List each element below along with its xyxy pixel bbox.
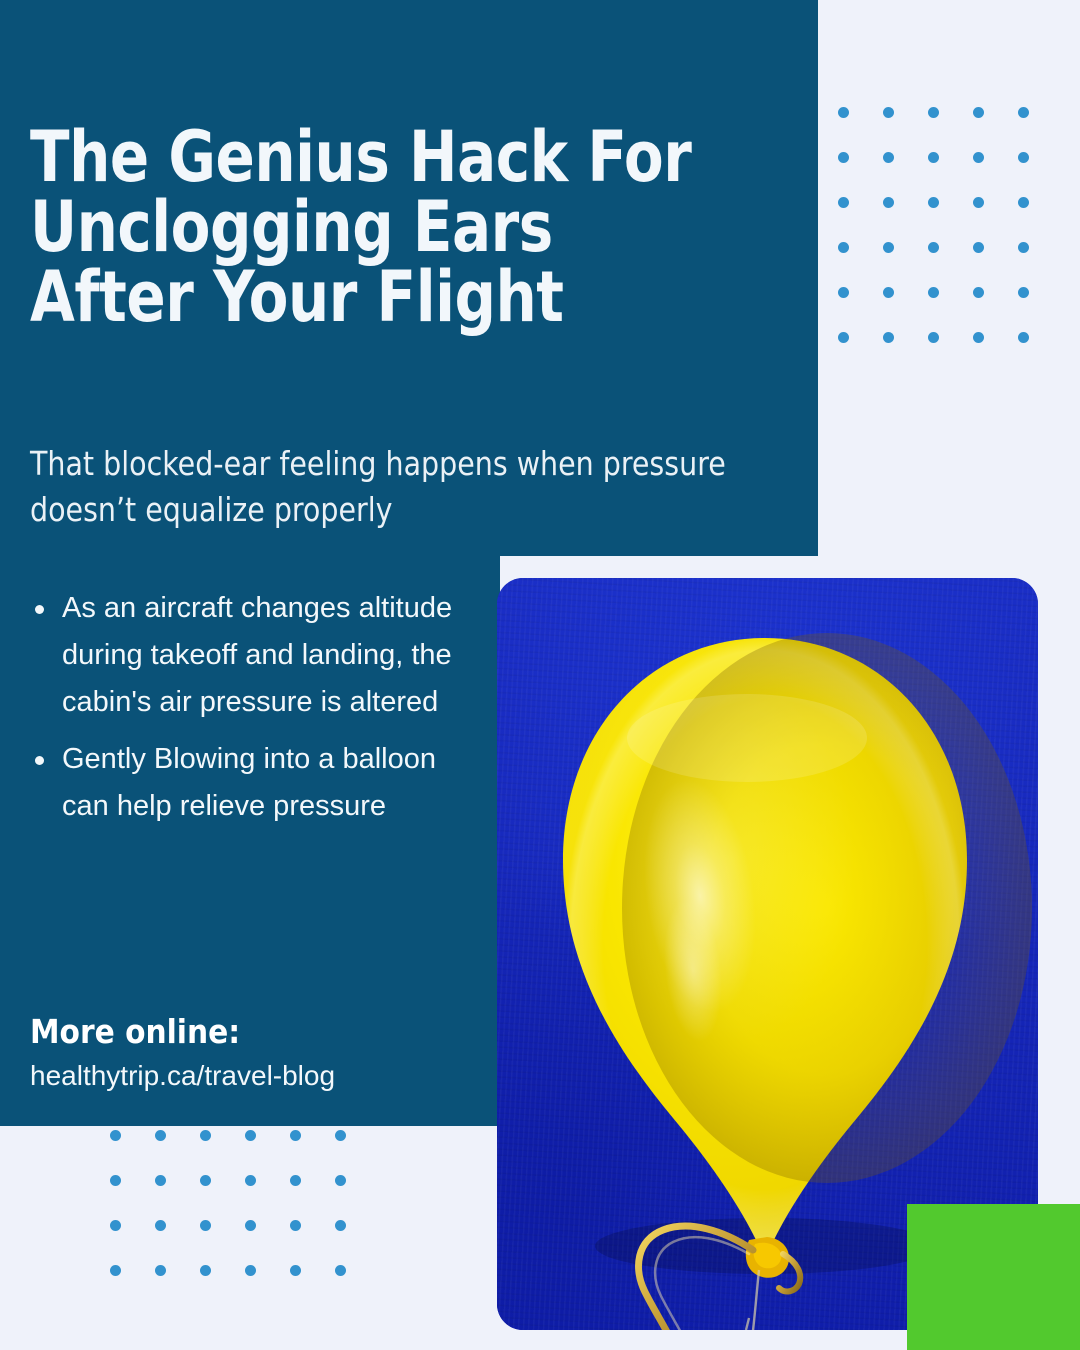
decorative-dot: [155, 1175, 166, 1186]
list-item-text: As an aircraft changes altitude during t…: [62, 592, 452, 718]
page-title-line-1: The Genius Hack For: [30, 122, 729, 192]
decorative-dot: [883, 332, 894, 343]
dot-grid-top-right: [838, 107, 1038, 347]
page-title-line-3: After Your Flight: [30, 262, 729, 332]
decorative-dot: [928, 197, 939, 208]
list-item: As an aircraft changes altitude during t…: [22, 585, 482, 726]
decorative-dot: [335, 1265, 346, 1276]
decorative-dot: [1018, 332, 1029, 343]
decorative-dot: [883, 107, 894, 118]
decorative-dot: [973, 242, 984, 253]
decorative-dot: [200, 1265, 211, 1276]
decorative-dot: [245, 1130, 256, 1141]
decorative-dot: [1018, 287, 1029, 298]
decorative-dot: [290, 1265, 301, 1276]
decorative-dot: [838, 332, 849, 343]
decorative-dot: [838, 287, 849, 298]
decorative-dot: [110, 1130, 121, 1141]
decorative-dot: [155, 1130, 166, 1141]
decorative-dot: [335, 1175, 346, 1186]
subtitle: That blocked-ear feeling happens when pr…: [30, 441, 740, 532]
decorative-dot: [245, 1175, 256, 1186]
decorative-dot: [245, 1220, 256, 1231]
decorative-dot: [883, 242, 894, 253]
decorative-dot: [883, 197, 894, 208]
decorative-dot: [883, 152, 894, 163]
decorative-dot: [928, 242, 939, 253]
decorative-dot: [110, 1175, 121, 1186]
decorative-dot: [838, 152, 849, 163]
decorative-dot: [335, 1220, 346, 1231]
decorative-dot: [838, 107, 849, 118]
decorative-dot: [838, 197, 849, 208]
decorative-dot: [928, 287, 939, 298]
decorative-dot: [155, 1220, 166, 1231]
balloon-string-lower: [746, 1318, 749, 1330]
list-item: Gently Blowing into a balloon can help r…: [22, 736, 482, 830]
decorative-dot: [928, 332, 939, 343]
decorative-dot: [928, 152, 939, 163]
decorative-dot: [335, 1130, 346, 1141]
balloon-string: [749, 1270, 759, 1330]
decorative-dot: [290, 1130, 301, 1141]
decorative-dot: [973, 107, 984, 118]
balloon-highlight-top: [627, 694, 867, 782]
decorative-dot: [110, 1265, 121, 1276]
page-title: The Genius Hack ForUnclogging EarsAfter …: [30, 122, 729, 332]
list-item-text: Gently Blowing into a balloon can help r…: [62, 743, 436, 822]
decorative-dot: [1018, 197, 1029, 208]
decorative-dot: [928, 107, 939, 118]
decorative-dot: [290, 1175, 301, 1186]
decorative-dot: [838, 242, 849, 253]
decorative-dot: [973, 197, 984, 208]
decorative-dot: [973, 332, 984, 343]
decorative-dot: [973, 152, 984, 163]
decorative-dot: [1018, 242, 1029, 253]
decorative-dot: [245, 1265, 256, 1276]
decorative-dot: [200, 1175, 211, 1186]
decorative-dot: [290, 1220, 301, 1231]
dot-grid-bottom-left: [110, 1130, 370, 1290]
decorative-dot: [1018, 152, 1029, 163]
decorative-dot: [200, 1220, 211, 1231]
green-accent-block: [907, 1204, 1080, 1350]
decorative-dot: [200, 1130, 211, 1141]
decorative-dot: [883, 287, 894, 298]
website-url[interactable]: healthytrip.ca/travel-blog: [30, 1060, 335, 1092]
decorative-dot: [155, 1265, 166, 1276]
decorative-dot: [1018, 107, 1029, 118]
infographic-canvas: The Genius Hack ForUnclogging EarsAfter …: [0, 0, 1080, 1350]
fact-list: As an aircraft changes altitude during t…: [22, 585, 482, 840]
decorative-dot: [110, 1220, 121, 1231]
page-title-line-2: Unclogging Ears: [30, 192, 729, 262]
more-online-label: More online:: [30, 1012, 240, 1051]
decorative-dot: [973, 287, 984, 298]
